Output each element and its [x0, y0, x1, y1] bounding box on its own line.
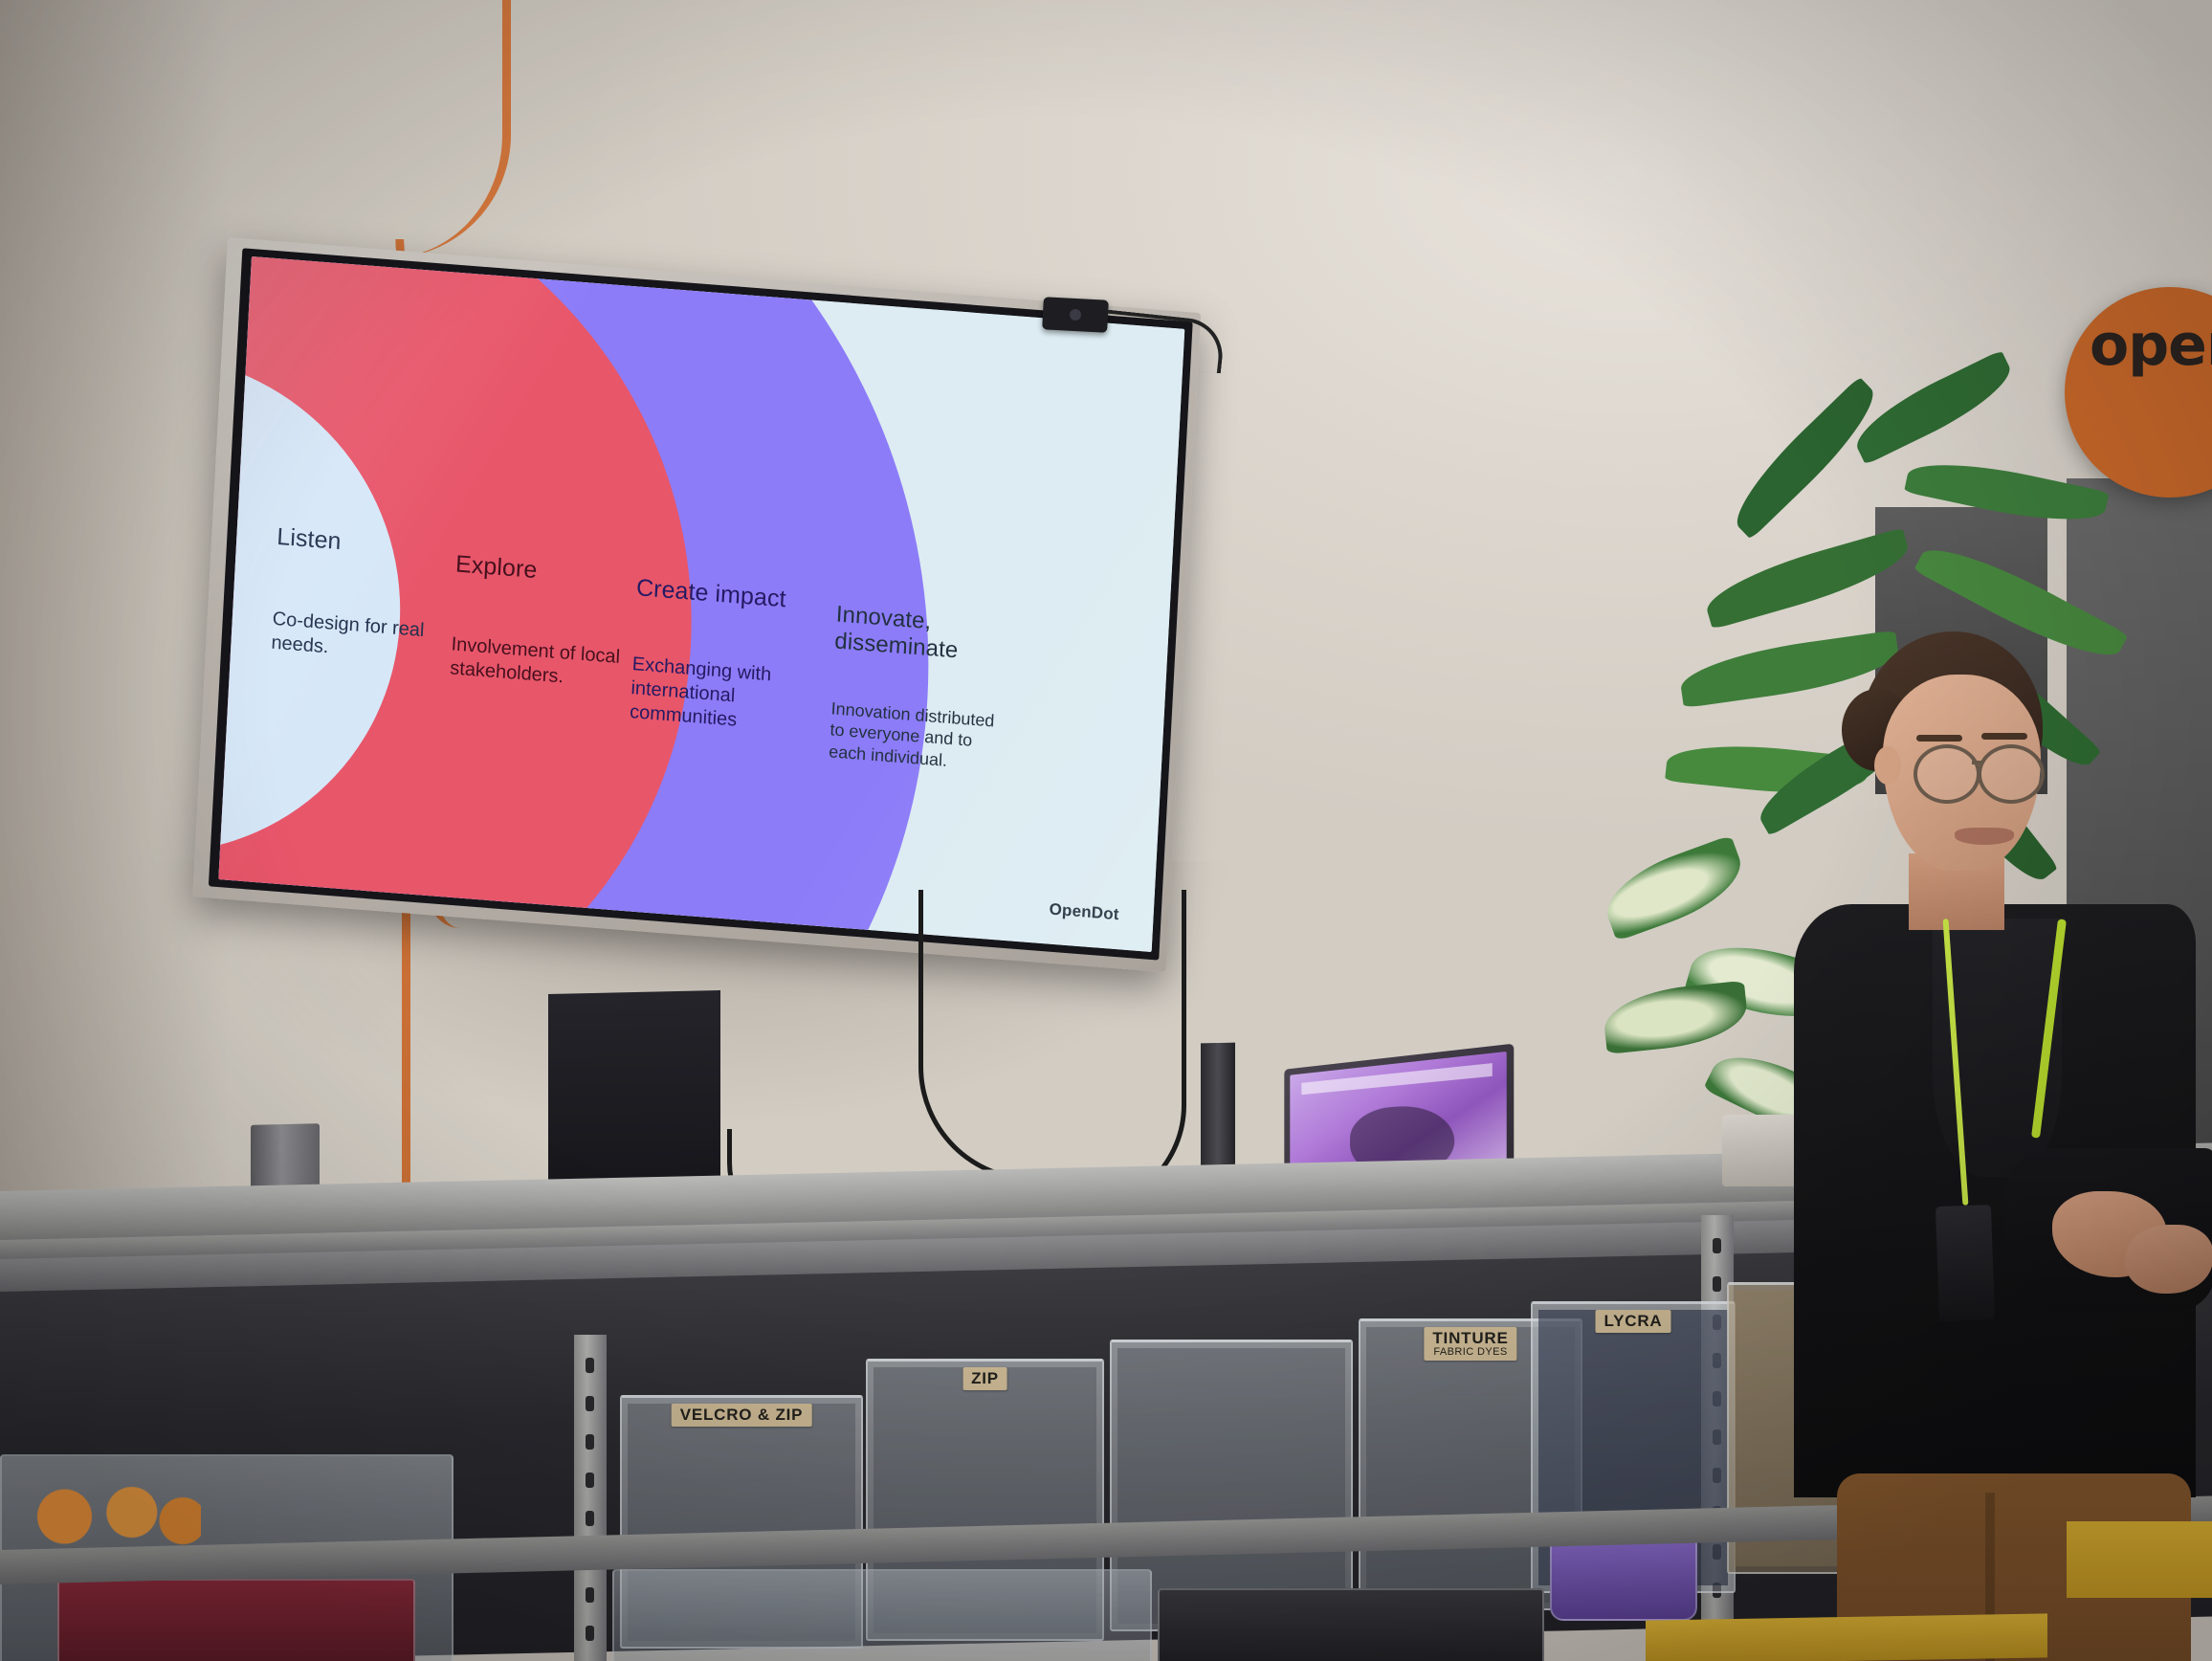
bin-label-text: LYCRA [1604, 1312, 1663, 1330]
slide-column-explore: Explore Involvement of local stakeholder… [450, 550, 627, 693]
column-title: Innovate, disseminate [834, 601, 1018, 669]
bin-label: LYCRA [1596, 1310, 1671, 1333]
slide-column-listen: Listen Co-design for real needs. [271, 523, 459, 669]
presentation-slide: Listen Co-design for real needs. Explore… [218, 256, 1184, 952]
presenter-badge [1935, 1205, 1995, 1321]
presenter-hand-right [2125, 1225, 2212, 1294]
glasses-bridge [1972, 761, 1981, 764]
column-body: Exchanging with international communitie… [630, 653, 807, 739]
subwoofer-upper [548, 990, 720, 1205]
glasses-icon [1978, 744, 2045, 804]
presenter-ear [1874, 746, 1901, 785]
shelf-post [574, 1335, 607, 1661]
yellow-bench-front [1646, 1613, 2047, 1661]
bin-label: TINTURE FABRIC DYES [1424, 1327, 1516, 1361]
presenter [1765, 631, 2212, 1661]
laptop-screen-toolbar [1301, 1063, 1492, 1095]
red-bin-lower[interactable] [57, 1579, 415, 1661]
tv-screen: Listen Co-design for real needs. Explore… [218, 256, 1184, 952]
webcam-icon [1042, 297, 1109, 333]
opendot-sign-text: opendot [2090, 320, 2212, 372]
bin-label-text: VELCRO & ZIP [680, 1406, 804, 1424]
wall-mounted-tv: Listen Co-design for real needs. Explore… [192, 237, 1201, 972]
presenter-mouth [1955, 828, 2014, 845]
lanyard-strap-right [2031, 919, 2067, 1138]
bin-label-text: TINTURE [1432, 1329, 1508, 1347]
storage-bin-lower[interactable] [612, 1569, 1152, 1661]
bin-label-text: ZIP [971, 1369, 999, 1387]
bin-label: VELCRO & ZIP [672, 1404, 812, 1427]
slide-column-create-impact: Create impact Exchanging with internatio… [630, 574, 811, 738]
glasses-icon [1913, 744, 1980, 804]
yellow-bench [2067, 1521, 2212, 1598]
bin-label-subtext: FABRIC DYES [1432, 1347, 1508, 1359]
dark-bin-lower[interactable] [1158, 1588, 1544, 1661]
bin-label: ZIP [962, 1367, 1007, 1390]
scene-root: opendot Listen Co-design for real needs.… [0, 0, 2212, 1661]
slide-column-innovate-disseminate: Innovate, disseminate Innovation distrib… [829, 601, 1018, 776]
